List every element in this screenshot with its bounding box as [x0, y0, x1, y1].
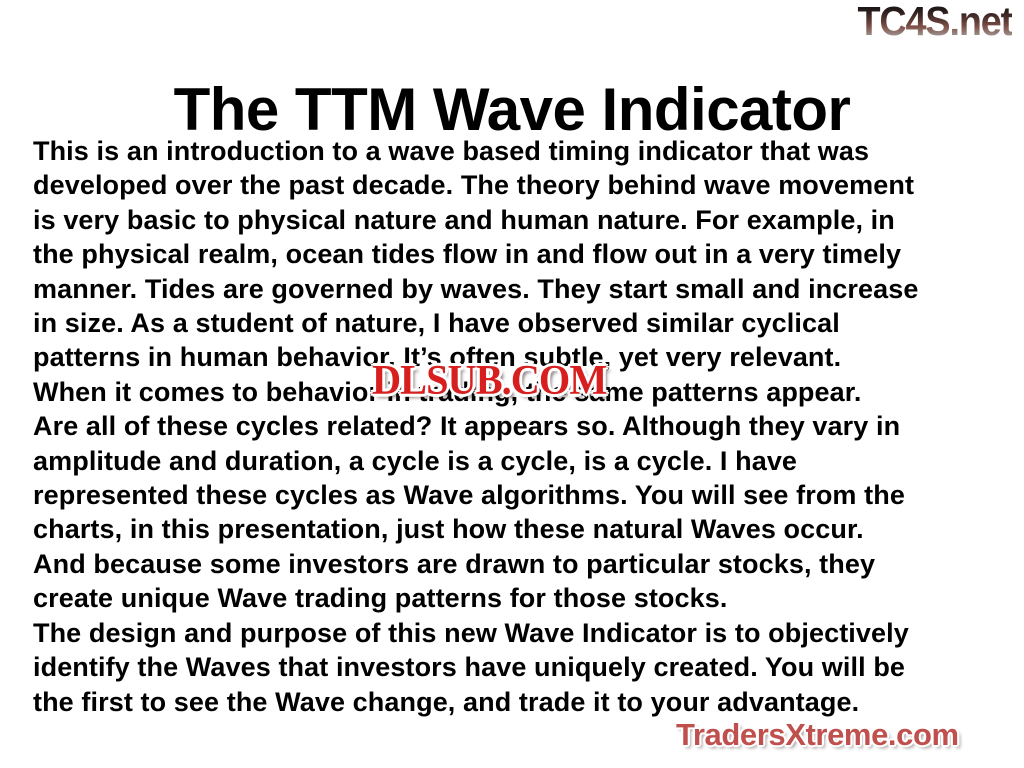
body-paragraph-3: The design and purpose of this new Wave …: [33, 616, 998, 719]
brand-logo-tc4s: TC4S.net: [857, 1, 1012, 42]
body-line: the first to see the Wave change, and tr…: [33, 685, 998, 719]
body-line: create unique Wave trading patterns for …: [33, 581, 998, 615]
body-line: represented these cycles as Wave algorit…: [33, 478, 998, 512]
watermark-dlsub: DLSUB.COM: [372, 360, 606, 402]
body-line: amplitude and duration, a cycle is a cyc…: [33, 444, 998, 478]
body-line: charts, in this presentation, just how t…: [33, 512, 998, 546]
body-line: And because some investors are drawn to …: [33, 547, 998, 581]
body-line: This is an introduction to a wave based …: [33, 134, 998, 168]
slide-canvas: TC4S.net The TTM Wave Indicator This is …: [0, 0, 1024, 768]
body-line: the physical realm, ocean tides flow in …: [33, 237, 998, 271]
body-line: in size. As a student of nature, I have …: [33, 306, 998, 340]
body-line: manner. Tides are governed by waves. The…: [33, 272, 998, 306]
body-line: Are all of these cycles related? It appe…: [33, 409, 998, 443]
body-line: identify the Waves that investors have u…: [33, 650, 998, 684]
body-paragraph-2: Are all of these cycles related? It appe…: [33, 409, 998, 615]
body-line: is very basic to physical nature and hum…: [33, 203, 998, 237]
page-title: The TTM Wave Indicator: [0, 78, 1024, 142]
body-copy: This is an introduction to a wave based …: [33, 134, 998, 719]
body-line: developed over the past decade. The theo…: [33, 168, 998, 202]
footer-brand-tradersxtreme: TradersXtreme.com: [676, 718, 959, 752]
body-line: The design and purpose of this new Wave …: [33, 616, 998, 650]
